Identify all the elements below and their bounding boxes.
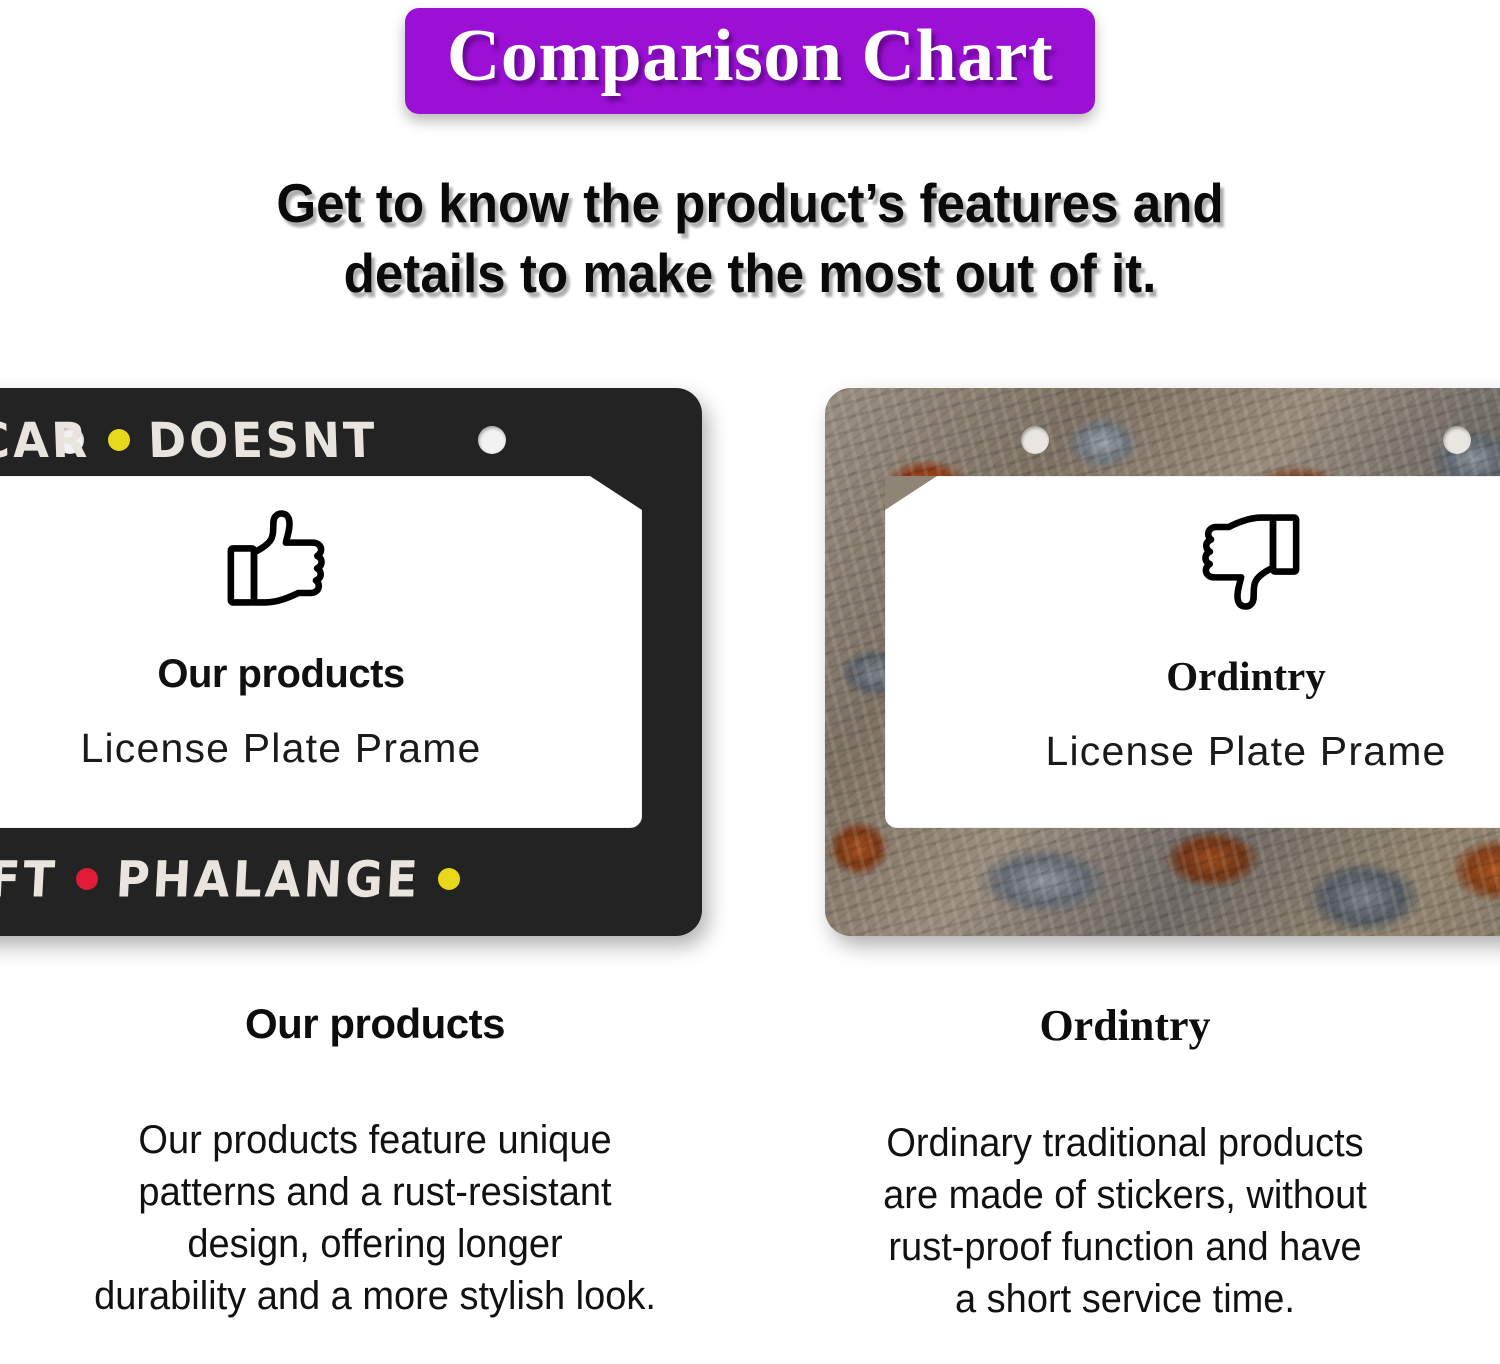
body-line: a short service time. bbox=[812, 1273, 1439, 1325]
comparison-heading-ours: Our products bbox=[0, 1000, 750, 1048]
plate-top-text-left: S CAR DOESNT bbox=[0, 410, 702, 470]
plate-dot-yellow bbox=[108, 429, 130, 451]
comparison-body-ours: Our products feature unique patterns and… bbox=[45, 1114, 705, 1322]
body-line: rust-proof function and have bbox=[812, 1221, 1439, 1273]
plate-dot-yellow bbox=[438, 868, 460, 890]
our-product-subtitle: License Plate Prame bbox=[0, 725, 702, 772]
ordinary-product-frame: Ordintry License Plate Prame bbox=[825, 388, 1500, 936]
mount-hole-left bbox=[1021, 426, 1049, 454]
title-banner-wrapper: Comparison Chart bbox=[0, 8, 1500, 114]
thumbs-up-icon bbox=[222, 506, 340, 614]
body-line: are made of stickers, without bbox=[812, 1169, 1439, 1221]
plate-bottom-text-left: LEFT PHALANGE bbox=[0, 848, 702, 910]
comparison-chart-page: Comparison Chart Get to know the product… bbox=[0, 0, 1500, 1364]
frame-bevel-top-left bbox=[885, 476, 937, 510]
thumbs-down-icon bbox=[1187, 506, 1305, 614]
comparison-column-ours: Our products Our products feature unique… bbox=[0, 1000, 750, 1325]
body-line: Our products feature unique bbox=[62, 1114, 689, 1166]
comparison-body-ordinary: Ordinary traditional products are made o… bbox=[795, 1117, 1455, 1325]
body-line: Ordinary traditional products bbox=[812, 1117, 1439, 1169]
subtitle-line-2: details to make the most out of it. bbox=[146, 238, 1355, 308]
page-title: Comparison Chart bbox=[447, 14, 1053, 100]
product-frames-row: S CAR DOESNT LEFT PHALANGE Our bbox=[0, 380, 1500, 960]
mount-hole-right bbox=[1443, 426, 1471, 454]
plate-word: PHALANGE bbox=[114, 850, 421, 908]
body-line: durability and a more stylish look. bbox=[62, 1270, 689, 1322]
our-product-inner-content: Our products License Plate Prame bbox=[0, 506, 702, 772]
comparison-heading-ordinary: Ordintry bbox=[750, 1000, 1500, 1051]
ordinary-product-subtitle: License Plate Prame bbox=[825, 728, 1500, 775]
ordinary-product-title: Ordintry bbox=[825, 652, 1500, 700]
body-line: patterns and a rust-resistant bbox=[62, 1166, 689, 1218]
plate-dot-red bbox=[76, 868, 98, 890]
title-banner: Comparison Chart bbox=[405, 8, 1095, 114]
page-subtitle: Get to know the product’s features and d… bbox=[100, 168, 1400, 309]
plate-word: CAR bbox=[0, 412, 91, 469]
plate-word: DOESNT bbox=[147, 412, 379, 469]
frame-bevel-top-right bbox=[590, 476, 642, 510]
subtitle-line-1: Get to know the product’s features and bbox=[146, 168, 1355, 238]
ordinary-product-inner-content: Ordintry License Plate Prame bbox=[825, 506, 1500, 775]
plate-word: LEFT bbox=[0, 850, 59, 908]
our-product-frame: S CAR DOESNT LEFT PHALANGE Our bbox=[0, 388, 702, 936]
body-line: design, offering longer bbox=[62, 1218, 689, 1270]
comparison-column-ordinary: Ordintry Ordinary traditional products a… bbox=[750, 1000, 1500, 1325]
comparison-columns: Our products Our products feature unique… bbox=[0, 1000, 1500, 1325]
our-product-title: Our products bbox=[0, 652, 702, 697]
